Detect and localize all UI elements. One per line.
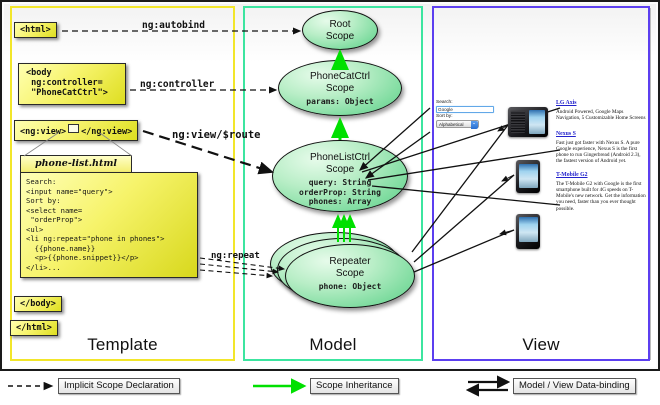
tag-html-open: <html>	[14, 22, 57, 38]
view-controls: Search: Google Sort by: Alphabetical	[436, 100, 496, 128]
phone-image-3	[516, 214, 540, 249]
phone-snippet-3: The T-Mobile G2 with Google is the first…	[556, 181, 648, 212]
phone-1-keyboard	[510, 110, 526, 134]
tag-body-close: </body>	[14, 296, 62, 312]
tag-ngview-open: <ng:view>	[20, 127, 66, 137]
file-note-filename: phone-list.html	[20, 155, 132, 172]
chevron-down-icon	[471, 121, 478, 129]
phone-1-screen	[529, 110, 545, 134]
column-label-model: Model	[245, 335, 421, 355]
scope-repeater: Repeater Scope phone: Object	[285, 244, 415, 308]
legend-label-inheritance: Scope Inheritance	[310, 378, 399, 394]
sort-select[interactable]: Alphabetical	[436, 120, 479, 128]
scope-phonelistctrl-label: PhoneListCtrl Scope	[273, 152, 407, 175]
scope-root: Root Scope	[302, 10, 378, 50]
phone-3-screen	[519, 217, 538, 242]
legend: Implicit Scope Declaration Scope Inherit…	[0, 374, 660, 405]
phone-link-2[interactable]: Nexus S	[556, 131, 648, 138]
phone-list: LG Axis Android Powered, Google Maps Nav…	[556, 100, 648, 219]
column-label-view: View	[434, 335, 648, 355]
diagram-canvas: Template Model View <html> <body ng:cont…	[0, 0, 660, 405]
phone-link-3[interactable]: T-Mobile G2	[556, 172, 648, 179]
legend-label-implicit: Implicit Scope Declaration	[58, 378, 180, 394]
scope-phonecatctrl-label: PhoneCatCtrl Scope	[279, 71, 401, 94]
scope-phonecatctrl: PhoneCatCtrl Scope params: Object	[278, 60, 402, 116]
tag-ngview-close: </ng:view>	[81, 127, 132, 137]
phone-image-1	[508, 107, 548, 137]
scope-phonelistctrl: PhoneListCtrl Scope query: String orderP…	[272, 140, 408, 212]
list-item: LG Axis Android Powered, Google Maps Nav…	[556, 100, 648, 122]
sort-select-value: Alphabetical	[439, 122, 464, 127]
scope-root-label: Root Scope	[303, 19, 377, 42]
wire-label-controller: ng:controller	[140, 79, 214, 90]
list-item: Nexus S Fast just got faster with Nexus …	[556, 131, 648, 165]
wire-label-autobind: ng:autobind	[142, 20, 205, 31]
list-item: T-Mobile G2 The T-Mobile G2 with Google …	[556, 172, 648, 212]
file-note-code: Search: <input name="query"> Sort by: <s…	[20, 172, 198, 278]
column-label-template: Template	[12, 335, 233, 355]
phone-snippet-1: Android Powered, Google Maps Navigation,…	[556, 109, 648, 121]
phone-link-1[interactable]: LG Axis	[556, 100, 648, 107]
scope-repeater-label: Repeater Scope	[286, 256, 414, 279]
scope-phonecatctrl-props: params: Object	[279, 97, 401, 107]
view-divider	[650, 8, 651, 360]
tag-body-open: <body ng:controller= "PhoneCatCtrl">	[18, 63, 126, 105]
scope-repeater-props: phone: Object	[286, 282, 414, 292]
phone-image-2	[516, 160, 540, 193]
tag-html-close: </html>	[10, 320, 58, 336]
wire-label-repeat: ng:repeat	[211, 251, 260, 261]
search-input[interactable]: Google	[436, 106, 494, 113]
legend-label-databinding: Model / View Data-binding	[513, 378, 636, 394]
file-note-phone-list: phone-list.html Search: <input name="que…	[20, 155, 198, 278]
scope-phonelistctrl-props: query: String orderProp: String phones: …	[273, 178, 407, 207]
phone-2-screen	[519, 164, 538, 188]
tag-ngview: <ng:view></ng:view>	[14, 120, 138, 141]
wire-label-route: ng:view/$route	[172, 129, 261, 141]
phone-snippet-2: Fast just got faster with Nexus S. A pur…	[556, 140, 648, 165]
ngview-slot-icon	[68, 124, 79, 133]
